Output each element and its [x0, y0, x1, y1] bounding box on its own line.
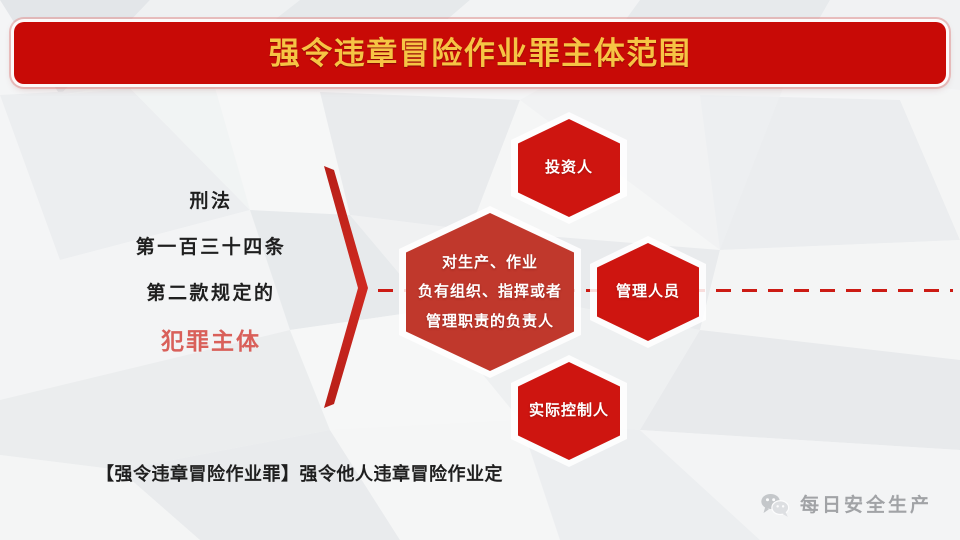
hexagon-center-label: 对生产、作业 负有组织、指挥或者 管理职责的负责人: [412, 248, 568, 336]
hexagon-management-staff-label: 管理人员: [610, 281, 686, 303]
hexagon-actual-controller-label: 实际控制人: [523, 400, 615, 422]
hexagon-center-line-2: 负有组织、指挥或者: [418, 277, 562, 306]
bottom-caption: 【强令违章冒险作业罪】强令他人违章冒险作业定: [96, 465, 503, 483]
slide-canvas: 强令违章冒险作业罪主体范围 刑法 第一百三十四条 第二款规定的 犯罪主体 对生产…: [0, 0, 960, 540]
left-text-emphasis: 犯罪主体: [96, 330, 326, 353]
hexagon-investor[interactable]: 投资人: [518, 119, 620, 217]
title-banner: 强令违章冒险作业罪主体范围: [14, 22, 946, 84]
left-text-line-1: 刑法: [96, 192, 326, 211]
hexagon-center[interactable]: 对生产、作业 负有组织、指挥或者 管理职责的负责人: [406, 213, 574, 371]
page-title: 强令违章冒险作业罪主体范围: [269, 38, 692, 69]
hexagon-center-line-1: 对生产、作业: [418, 248, 562, 277]
wechat-icon: [760, 492, 790, 518]
hexagon-management-staff[interactable]: 管理人员: [597, 243, 699, 341]
left-text-line-2: 第一百三十四条: [96, 238, 326, 257]
left-text-line-3: 第二款规定的: [96, 284, 326, 303]
watermark: 每日安全生产: [760, 492, 932, 518]
hexagon-center-line-3: 管理职责的负责人: [418, 307, 562, 336]
hexagon-investor-label: 投资人: [539, 157, 599, 179]
left-text-column: 刑法 第一百三十四条 第二款规定的 犯罪主体: [96, 192, 326, 353]
watermark-text: 每日安全生产: [800, 496, 932, 515]
hexagon-actual-controller[interactable]: 实际控制人: [518, 362, 620, 460]
